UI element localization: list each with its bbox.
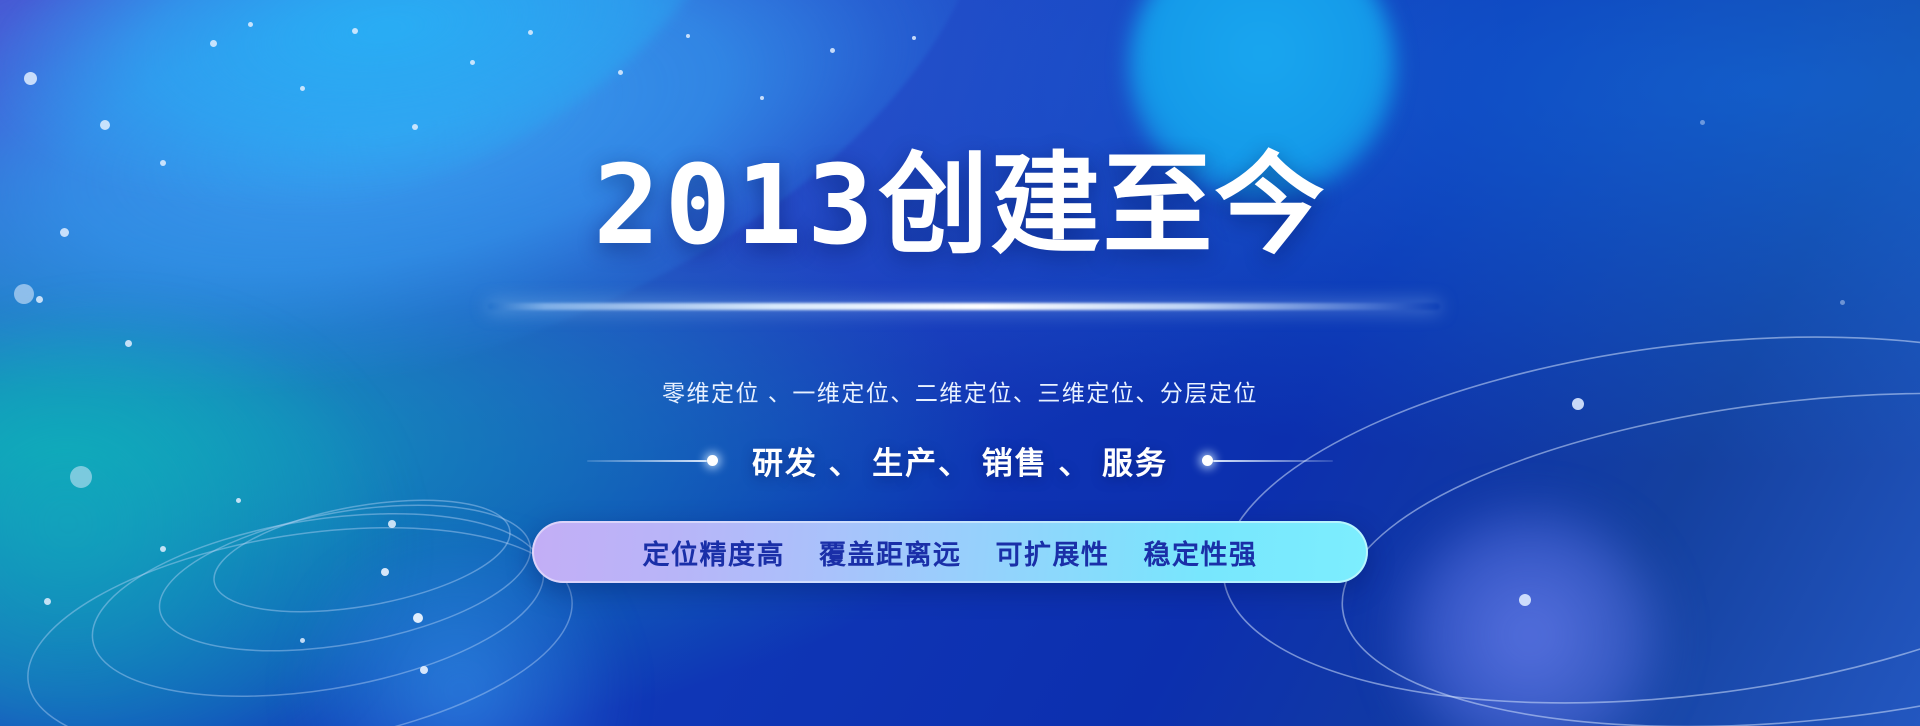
feature-item: 定位精度高 xyxy=(643,533,786,572)
subtitle-positioning-types: 零维定位 、一维定位、二维定位、三维定位、分层定位 xyxy=(0,374,1920,408)
hero-banner: 2013创建至今 零维定位 、一维定位、二维定位、三维定位、分层定位 研发 、 … xyxy=(0,0,1920,726)
feature-item: 稳定性强 xyxy=(1144,533,1258,572)
features-pill: 定位精度高 覆盖距离远 可扩展性 稳定性强 xyxy=(532,521,1368,583)
page-title: 2013创建至今 xyxy=(0,150,1920,261)
services-label: 研发 、 生产、 销售 、 服务 xyxy=(752,438,1168,483)
decorative-dot-left xyxy=(707,455,718,466)
feature-item: 覆盖距离远 xyxy=(819,533,962,572)
decorative-dot-right xyxy=(1202,455,1213,466)
headline-year: 2013 xyxy=(594,141,879,269)
decorative-bar-right xyxy=(1213,460,1333,462)
feature-item: 可扩展性 xyxy=(996,533,1110,572)
services-row: 研发 、 生产、 销售 、 服务 xyxy=(0,438,1920,483)
decorative-bar-left xyxy=(587,460,707,462)
headline-underline-glow xyxy=(488,303,1440,310)
decorative-line-right-icon xyxy=(1202,455,1333,466)
headline-text: 创建至今 xyxy=(878,144,1326,267)
decorative-line-left-icon xyxy=(587,455,718,466)
banner-content: 2013创建至今 零维定位 、一维定位、二维定位、三维定位、分层定位 研发 、 … xyxy=(0,0,1920,726)
